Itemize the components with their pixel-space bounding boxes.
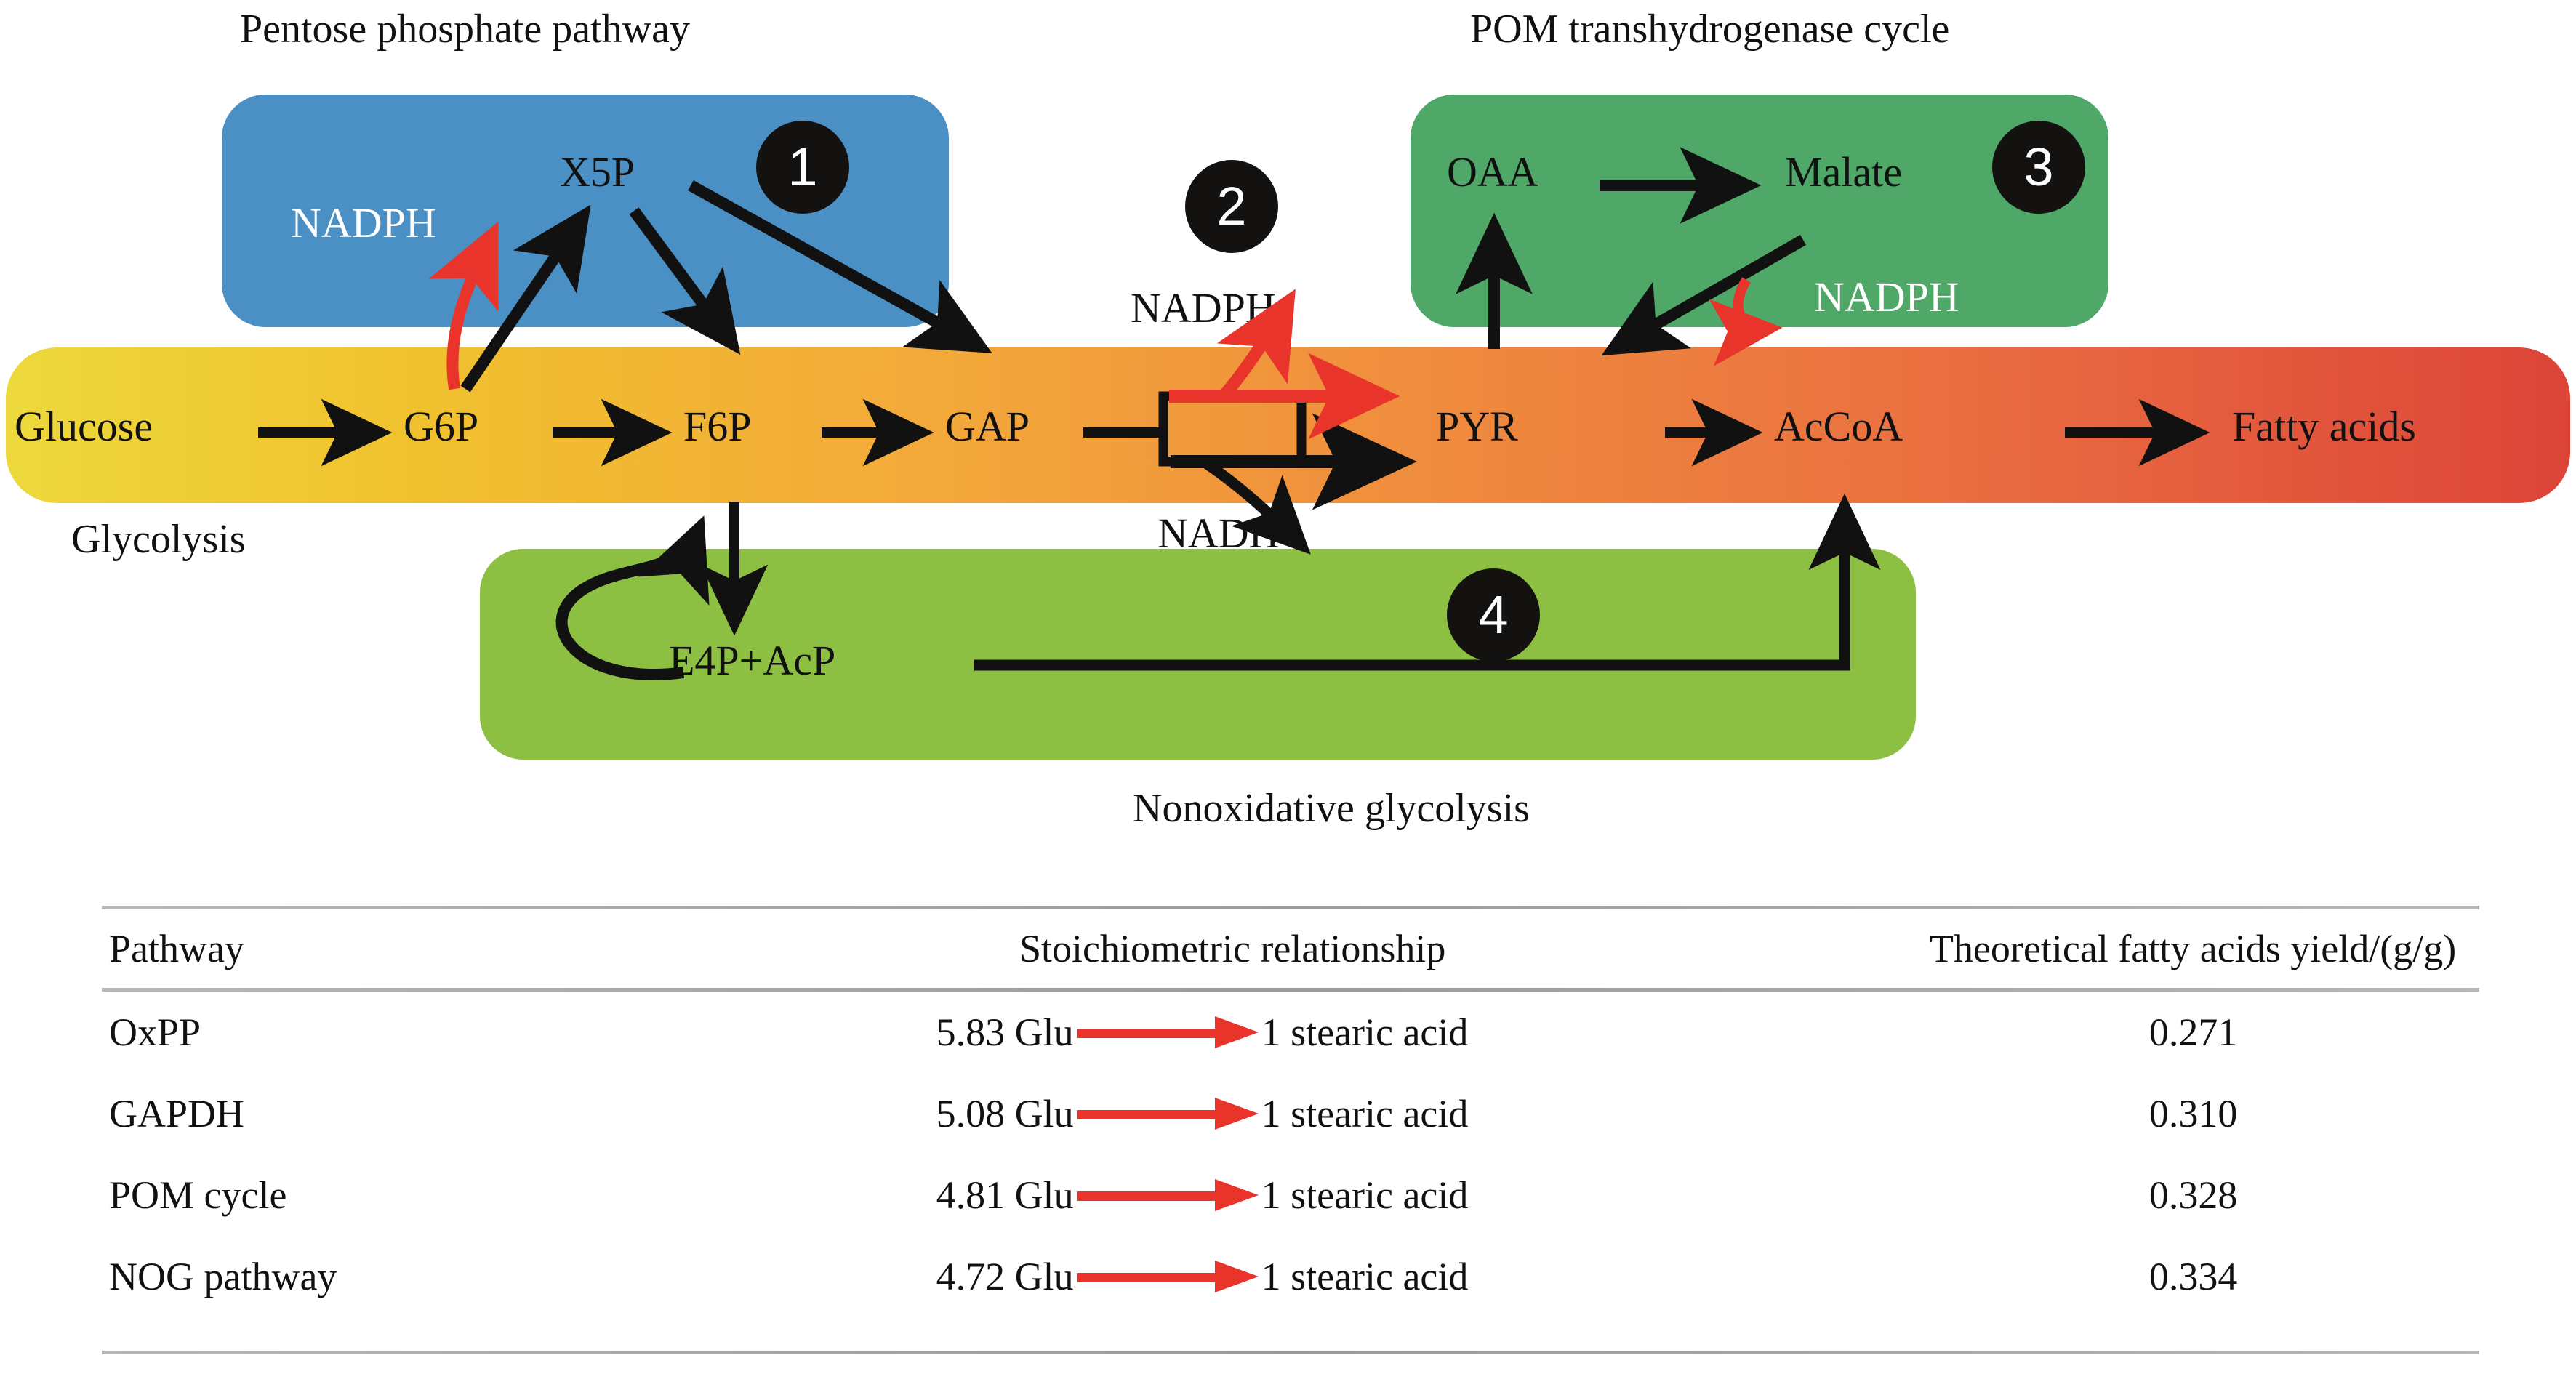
table-row[interactable]: GAPDH 5.08 Glu 1 stearic acid 0.310	[102, 1073, 2479, 1154]
metabolite-g6p: G6P	[404, 406, 478, 448]
reaction-arrow-icon	[1077, 1267, 1259, 1286]
pom-section-title: POM transhydrogenase cycle	[1470, 6, 1949, 52]
metabolite-f6p: F6P	[683, 406, 752, 448]
header-stoichiometry: Stoichiometric relationship	[558, 909, 1906, 988]
cell-yield: 0.328	[1907, 1154, 2479, 1236]
cell-yield: 0.310	[1907, 1073, 2479, 1154]
reaction-arrow-icon	[1077, 1186, 1259, 1205]
cell-reactant: 4.81 Glu	[892, 1173, 1074, 1218]
center-nadph-label: NADPH	[1131, 287, 1276, 329]
cell-yield: 0.334	[1907, 1236, 2479, 1317]
oaa-label: OAA	[1447, 151, 1538, 193]
metabolite-gap: GAP	[945, 406, 1030, 448]
cell-product: 1 stearic acid	[1261, 1173, 1574, 1218]
cell-product: 1 stearic acid	[1261, 1010, 1574, 1055]
header-yield: Theoretical fatty acids yield/(g/g)	[1906, 909, 2479, 988]
table-row[interactable]: NOG pathway 4.72 Glu 1 stearic acid 0.33…	[102, 1236, 2479, 1317]
cell-product: 1 stearic acid	[1261, 1254, 1574, 1299]
glycolysis-backbone-bar[interactable]	[6, 347, 2570, 503]
nog-section-title: Nonoxidative glycolysis	[1133, 785, 1530, 832]
cell-pathway: GAPDH	[102, 1073, 558, 1154]
cell-pathway: POM cycle	[102, 1154, 558, 1236]
cell-pathway: NOG pathway	[102, 1236, 558, 1317]
glycolysis-label: Glycolysis	[71, 516, 246, 563]
badge-3[interactable]: 3	[1992, 121, 2085, 214]
cell-pathway: OxPP	[102, 992, 558, 1073]
reaction-arrow-icon	[1077, 1023, 1259, 1042]
center-nadh-label: NADH	[1157, 512, 1280, 555]
metabolite-accoa: AcCoA	[1774, 406, 1903, 448]
cell-stoichiometry: 4.72 Glu 1 stearic acid	[558, 1236, 1907, 1317]
reaction-arrow-icon	[1077, 1104, 1259, 1123]
table-header-row: Pathway Stoichiometric relationship Theo…	[102, 909, 2479, 988]
ppp-section-title: Pentose phosphate pathway	[240, 6, 690, 52]
cell-reactant: 5.83 Glu	[892, 1010, 1074, 1055]
metabolite-glucose: Glucose	[15, 406, 153, 448]
badge-1[interactable]: 1	[756, 121, 849, 214]
pom-nadph-label: NADPH	[1814, 276, 1959, 318]
e4p-acp-label: E4P+AcP	[669, 640, 835, 682]
malate-label: Malate	[1785, 151, 1902, 193]
ppp-nadph-label: NADPH	[291, 202, 436, 244]
table-row[interactable]: POM cycle 4.81 Glu 1 stearic acid 0.328	[102, 1154, 2479, 1236]
x5p-label: X5P	[560, 151, 635, 193]
cell-reactant: 4.72 Glu	[892, 1254, 1074, 1299]
table-bottom-rule	[102, 1351, 2479, 1354]
cell-reactant: 5.08 Glu	[892, 1091, 1074, 1136]
header-pathway: Pathway	[102, 909, 558, 988]
cell-stoichiometry: 4.81 Glu 1 stearic acid	[558, 1154, 1907, 1236]
metabolite-pyr: PYR	[1436, 406, 1518, 448]
cell-stoichiometry: 5.83 Glu 1 stearic acid	[558, 992, 1907, 1073]
cell-stoichiometry: 5.08 Glu 1 stearic acid	[558, 1073, 1907, 1154]
badge-2[interactable]: 2	[1185, 160, 1278, 253]
pathway-yield-table: Pathway Stoichiometric relationship Theo…	[102, 906, 2479, 1354]
cell-product: 1 stearic acid	[1261, 1091, 1574, 1136]
pom-transhydrogenase-panel[interactable]	[1411, 95, 2108, 327]
badge-4[interactable]: 4	[1447, 568, 1540, 662]
cell-yield: 0.271	[1907, 992, 2479, 1073]
metabolite-fatty-acids: Fatty acids	[2232, 406, 2416, 448]
table-row[interactable]: OxPP 5.83 Glu 1 stearic acid 0.271	[102, 992, 2479, 1073]
